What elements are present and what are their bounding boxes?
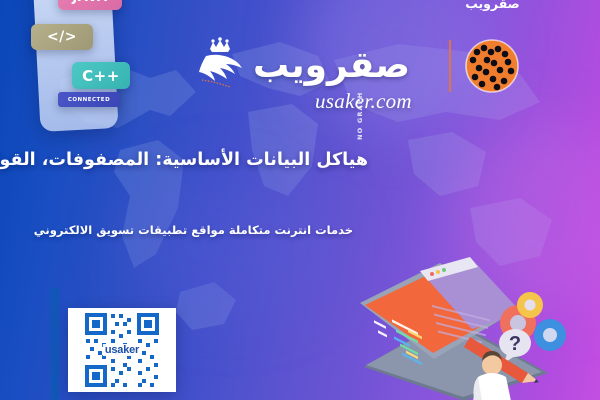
chip-code: </>	[31, 24, 93, 50]
left-accent-bar	[50, 288, 59, 400]
brand-logo: صقرويب usaker.com	[196, 36, 520, 96]
no-graph-watermark: NO GRAPH	[356, 92, 364, 140]
falcon-crown-icon	[196, 36, 250, 96]
dotted-globe-icon	[464, 38, 520, 94]
svg-text:?: ?	[509, 333, 521, 355]
qr-code[interactable]: usaker	[68, 308, 176, 392]
page-subtitle: خدمات انترنت متكاملة مواقع تطبيقات تسويق…	[0, 222, 353, 238]
top-ribbon-text: صقرويب	[465, 0, 520, 11]
laptop-illustration: ?	[352, 255, 600, 400]
chip-cpp: C++	[72, 62, 130, 89]
qr-center-label: usaker	[103, 344, 141, 356]
page-title: هياكل البيانات الأساسية: المصفوفات، القو…	[0, 149, 368, 173]
chip-connected: CONNECTED	[58, 92, 120, 107]
poster-canvas: صقرويب JAVA </> C++ CONNECTED صقرويب usa…	[0, 0, 600, 400]
top-ribbon: صقرويب	[385, 0, 600, 11]
chip-java: JAVA	[58, 0, 122, 10]
brand-arabic-wordmark: صقرويب	[253, 49, 410, 83]
brand-separator	[449, 40, 451, 92]
qr-canvas: usaker	[81, 309, 163, 391]
